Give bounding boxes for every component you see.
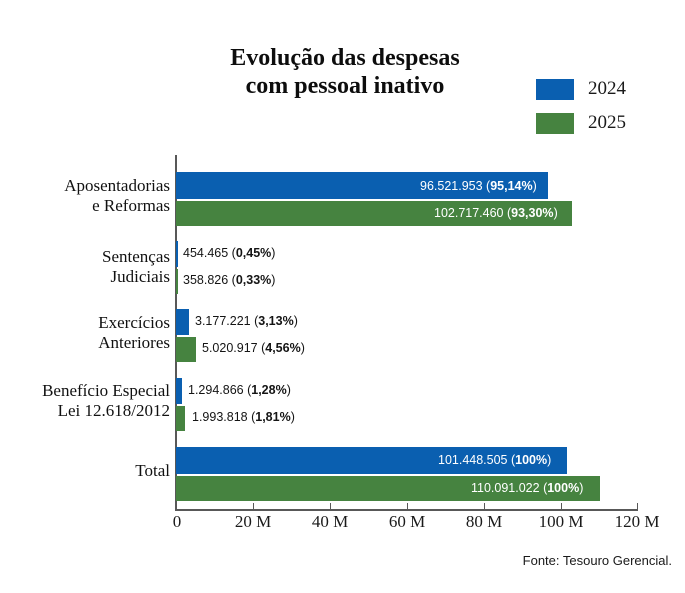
plot-area: Aposentadorias e Reformas Sentenças Judi… [0,0,685,593]
bar-label-2025-total: 110.091.022 (100%) [471,481,583,495]
x-tick-label-40m: 40 M [312,512,348,532]
x-tick-label-120m: 120 M [615,512,660,532]
bar-label-2024-beneficio: 1.294.866 (1,28%) [188,383,291,397]
bar-label-2025-exercicios: 5.020.917 (4,56%) [202,341,305,355]
x-tick-label-100m: 100 M [539,512,584,532]
x-tick-60m [407,503,408,511]
bar-label-2024-total: 101.448.505 (100%) [438,453,551,467]
category-label-sentencas: Sentenças Judiciais [102,247,170,287]
x-tick-120m [637,503,638,511]
bar-2024-beneficio[interactable] [176,378,182,404]
x-tick-20m [253,503,254,511]
x-tick-label-80m: 80 M [466,512,502,532]
bar-label-2024-exercicios: 3.177.221 (3,13%) [195,314,298,328]
x-tick-0 [176,503,177,511]
bar-2024-sentencas[interactable] [176,241,178,267]
bar-label-2024-aposentadorias: 96.521.953 (95,14%) [420,179,537,193]
x-tick-label-60m: 60 M [389,512,425,532]
bar-label-2025-beneficio: 1.993.818 (1,81%) [192,410,295,424]
x-tick-80m [484,503,485,511]
bar-2025-beneficio[interactable] [176,406,185,431]
source-note: Fonte: Tesouro Gerencial. [0,553,672,568]
chart-page: Evolução das despesas com pessoal inativ… [0,0,685,593]
bar-label-2025-aposentadorias: 102.717.460 (93,30%) [434,206,558,220]
bar-label-2024-sentencas: 454.465 (0,45%) [183,246,275,260]
category-label-beneficio: Benefício Especial Lei 12.618/2012 [42,381,170,421]
category-label-exercicios: Exercícios Anteriores [98,313,170,353]
bar-2025-exercicios[interactable] [176,337,196,362]
category-label-aposentadorias: Aposentadorias e Reformas [64,176,170,216]
bar-label-2025-sentencas: 358.826 (0,33%) [183,273,275,287]
x-tick-label-20m: 20 M [235,512,271,532]
bar-2024-exercicios[interactable] [176,309,189,335]
x-tick-100m [561,503,562,511]
x-tick-40m [330,503,331,511]
x-tick-label-0: 0 [173,512,182,532]
category-label-total: Total [135,461,170,481]
bar-2025-sentencas[interactable] [176,269,178,294]
